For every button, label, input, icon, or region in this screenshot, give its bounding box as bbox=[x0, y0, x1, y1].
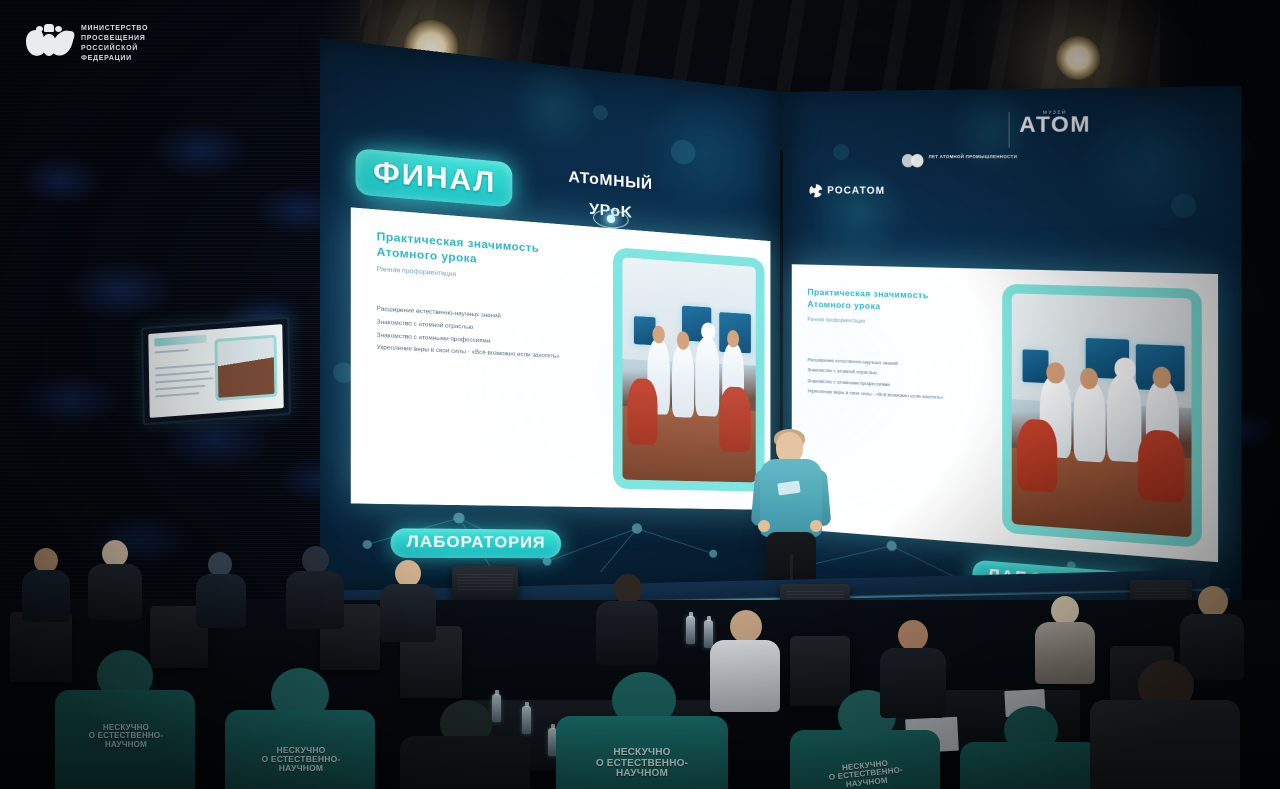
anniversary-80-icon bbox=[902, 154, 925, 167]
final-badge-label: ФИНАЛ bbox=[373, 155, 496, 198]
audience-body bbox=[880, 648, 946, 718]
left-patterned-wall bbox=[0, 0, 360, 640]
audience-head bbox=[730, 610, 762, 643]
lab-badge-left: ЛАБОРАТОРИЯ bbox=[391, 528, 561, 558]
slide-right-photo-frame bbox=[1002, 284, 1202, 548]
audience-hoodie bbox=[960, 742, 1100, 789]
audience-body bbox=[710, 640, 780, 712]
audience-body bbox=[286, 571, 344, 629]
audience-head bbox=[1198, 586, 1228, 617]
audience-body bbox=[1090, 700, 1240, 789]
audience-head bbox=[102, 540, 128, 567]
confidence-monitor-slide bbox=[148, 324, 283, 418]
museum-name-label: АТОМ bbox=[1019, 112, 1091, 138]
atomny-urok-logo: АТоМНЫЙ УРоK bbox=[553, 167, 668, 225]
audience-member bbox=[596, 574, 658, 660]
audience-head bbox=[614, 574, 642, 604]
slide-right-bullets: Расширение естественно-научных знаний Зн… bbox=[807, 357, 986, 408]
audience-head bbox=[898, 620, 928, 651]
logo-divider bbox=[1009, 112, 1010, 148]
audience-head bbox=[1051, 596, 1079, 625]
audience-member-hoodie bbox=[960, 706, 1100, 789]
hoodie-slogan: НЕСКУЧНО О ЕСТЕСТВЕННО- НАУЧНОМ bbox=[576, 748, 708, 780]
anniversary-lines: ЛЕТ АТОМНОЙ ПРОМЫШЛЕННОСТИ bbox=[929, 154, 1018, 160]
audience-body bbox=[88, 564, 142, 620]
audience-body bbox=[400, 736, 530, 789]
presenter-hand-right bbox=[810, 520, 822, 532]
audience-body bbox=[596, 601, 658, 665]
audience-body bbox=[1035, 622, 1095, 684]
audience-member-hoodie: НЕСКУЧНО О ЕСТЕСТВЕННО- НАУЧНОМ bbox=[556, 672, 728, 789]
water-bottle bbox=[686, 616, 695, 644]
audience-member bbox=[1035, 596, 1095, 680]
slide-right: Практическая значимость Атомного урока Р… bbox=[792, 264, 1218, 562]
ministry-logo-text: МИНИСТЕРСТВО ПРОСВЕЩЕНИЯ РОССИЙСКОЙ ФЕДЕ… bbox=[81, 24, 148, 65]
led-panel-right: РОСАТОМ ЛЕТ АТОМНОЙ ПРОМЫШЛЕННОСТИ МУЗЕЙ… bbox=[782, 86, 1241, 634]
confidence-monitor bbox=[141, 317, 291, 426]
ministry-logo: МИНИСТЕРСТВО ПРОСВЕЩЕНИЯ РОССИЙСКОЙ ФЕДЕ… bbox=[26, 22, 148, 66]
slide-left-title: Практическая значимость Атомного урока bbox=[377, 229, 540, 271]
slide-right-photo bbox=[1012, 293, 1192, 537]
audience-member bbox=[380, 560, 436, 636]
hoodie-slogan: НЕСКУЧНО О ЕСТЕСТВЕННО- НАУЧНОМ bbox=[243, 746, 359, 773]
audience-member bbox=[710, 610, 780, 706]
slide-left: Практическая значимость Атомного урока Р… bbox=[351, 207, 771, 510]
slide-left-subtitle: Ранняя профориентация bbox=[377, 267, 457, 279]
audience-body bbox=[196, 574, 246, 628]
spotlight-icon bbox=[1056, 36, 1100, 80]
audience-head bbox=[395, 560, 421, 587]
audience-member bbox=[20, 548, 72, 618]
slide-right-subtitle: Ранняя профориентация bbox=[807, 317, 865, 325]
audience-member bbox=[286, 546, 344, 624]
audience-member-hoodie: НЕСКУЧНО О ЕСТЕСТВЕННО- НАУЧНОМ bbox=[55, 650, 195, 789]
double-headed-eagle-icon bbox=[26, 22, 72, 66]
museum-atom-logo: МУЗЕЙ АТОМ bbox=[1019, 109, 1091, 138]
slide-left-photo-frame bbox=[613, 247, 764, 492]
stage-monitor-speaker bbox=[452, 566, 518, 600]
hoodie-slogan: НЕСКУЧНО О ЕСТЕСТВЕННО- НАУЧНОМ bbox=[71, 724, 181, 749]
rosatom-logo: РОСАТОМ bbox=[809, 184, 885, 198]
lab-badge-left-label: ЛАБОРАТОРИЯ bbox=[407, 533, 546, 552]
audience-member bbox=[1090, 660, 1240, 789]
conference-hall-photo: ФИНАЛ АТоМНЫЙ УРоK Практическая значимос… bbox=[0, 0, 1280, 789]
presenter-hand-left bbox=[758, 520, 770, 532]
slide-left-photo bbox=[622, 257, 755, 482]
rosatom-mark-icon bbox=[809, 184, 822, 197]
audience-body bbox=[22, 570, 70, 622]
audience-member bbox=[88, 540, 142, 614]
audience-head bbox=[302, 546, 329, 574]
museum-pre-label: МУЗЕЙ bbox=[1019, 109, 1091, 115]
rosatom-label: РОСАТОМ bbox=[827, 185, 885, 197]
audience-body bbox=[380, 584, 436, 642]
audience-member bbox=[400, 700, 530, 789]
audience-member-hoodie: НЕСКУЧНО О ЕСТЕСТВЕННО- НАУЧНОМ bbox=[225, 668, 375, 789]
slide-left-bullets: Расширение естественно-научных знаний Зн… bbox=[377, 306, 599, 369]
audience-member bbox=[196, 552, 246, 622]
led-panel-left: ФИНАЛ АТоМНЫЙ УРоK Практическая значимос… bbox=[320, 38, 782, 594]
slide-right-title: Практическая значимость Атомного урока bbox=[807, 287, 928, 314]
anniversary-logo: ЛЕТ АТОМНОЙ ПРОМЫШЛЕННОСТИ bbox=[902, 154, 1017, 168]
audience-member bbox=[880, 620, 946, 712]
